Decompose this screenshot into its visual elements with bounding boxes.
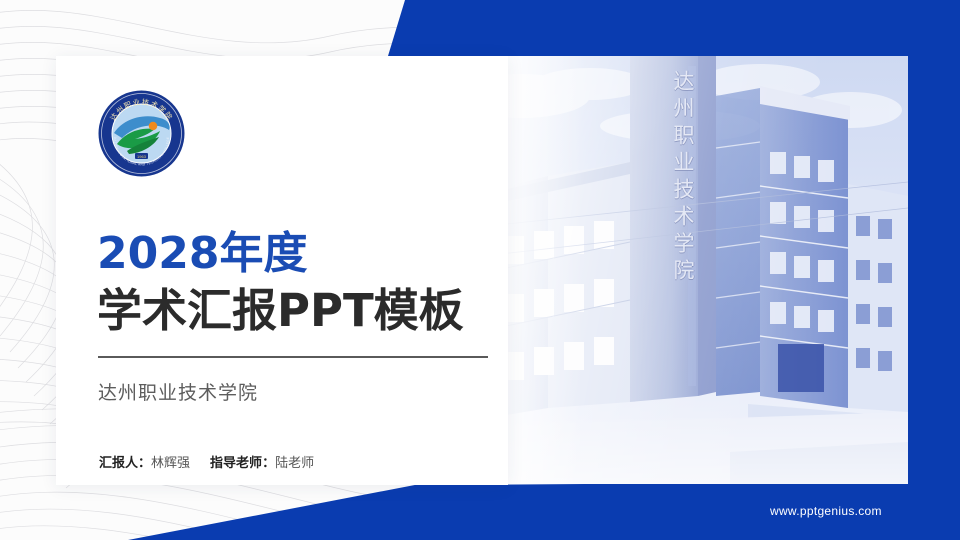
presenter-name: 林辉强 [151, 456, 190, 471]
blue-right-band [904, 56, 960, 484]
advisor-name: 陆老师 [275, 456, 314, 471]
credits-line: 汇报人：林辉强指导老师：陆老师 [99, 452, 314, 471]
title-year: 2028年度 [97, 232, 307, 276]
subtitle-institution: 达州职业技术学院 [98, 378, 258, 405]
advisor-separator: ： [262, 456, 275, 471]
presentation-slide: 达州职业技术学院 1963 达州职业技术学院 [0, 0, 960, 540]
building-sign-text: 达州职业技术学院 [668, 70, 698, 286]
title-divider [98, 356, 488, 358]
title-main: 学术汇报PPT模板 [97, 288, 464, 333]
watermark-url: www.pptgenius.com [770, 504, 882, 518]
presenter-separator: ： [138, 456, 151, 471]
college-logo: 1963 达州职业技术学院 DAZHOU VOCATIONAL AND TECH… [97, 89, 186, 178]
advisor-label: 指导老师 [210, 456, 262, 471]
svg-text:1963: 1963 [137, 154, 147, 159]
presenter-label: 汇报人 [99, 456, 138, 471]
